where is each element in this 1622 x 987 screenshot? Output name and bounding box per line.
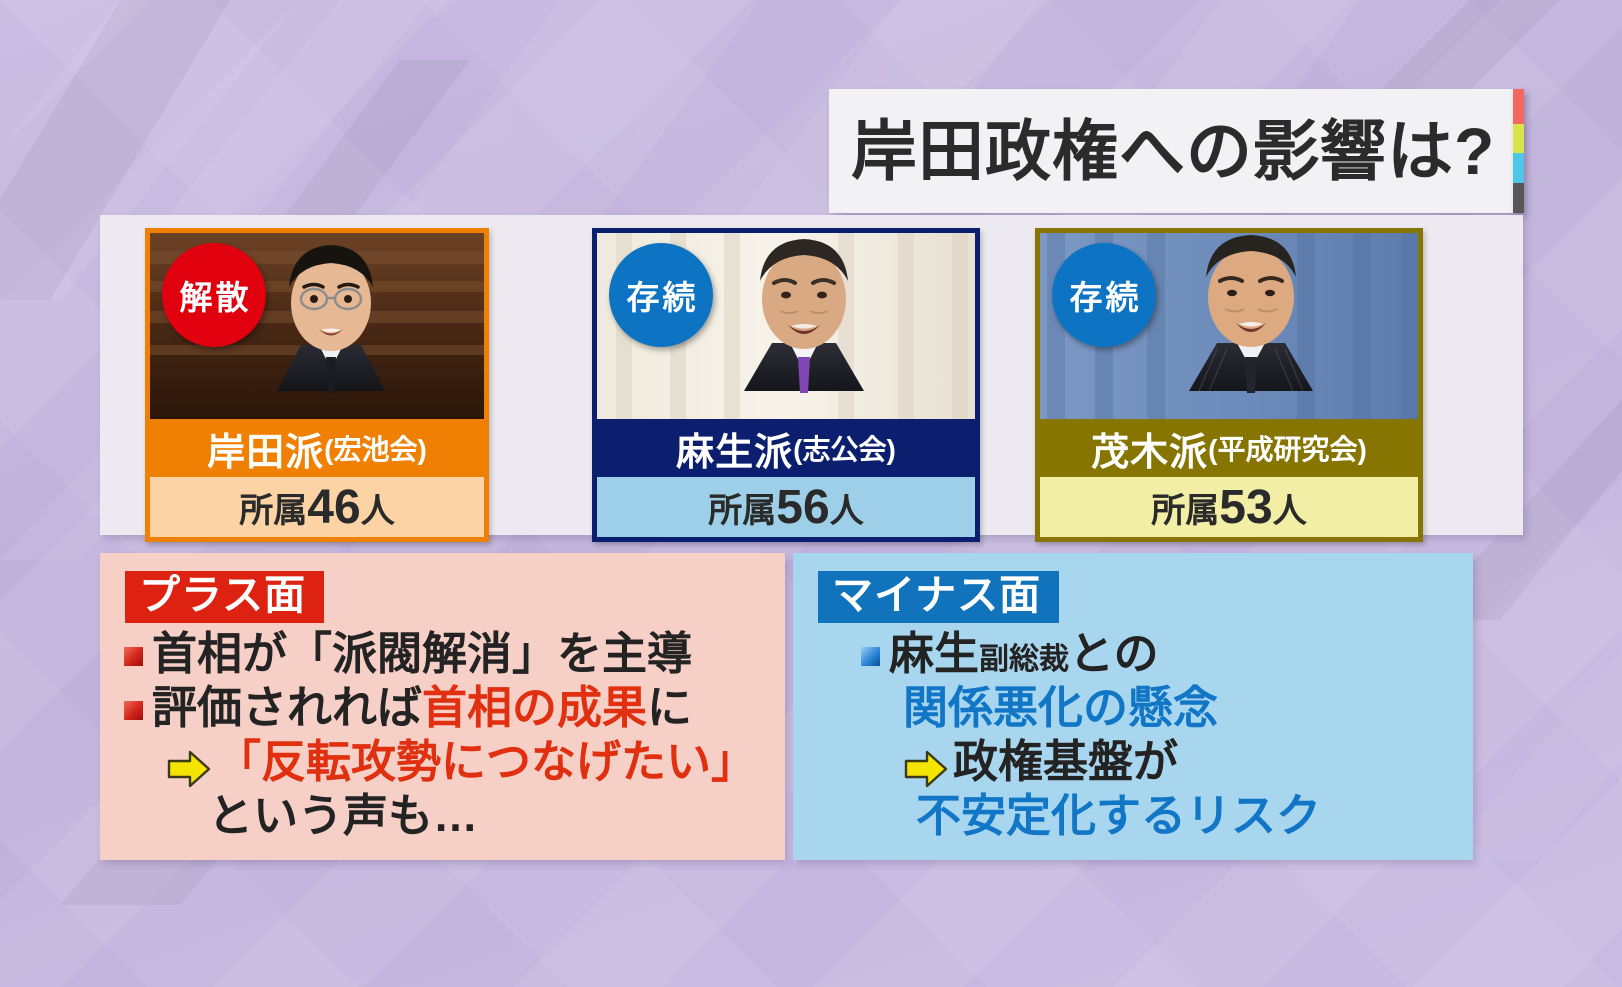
plus-bullet-2-tail: に	[647, 682, 692, 733]
politician-photo-aso: 存続	[597, 233, 975, 419]
square-bullet-icon	[124, 647, 143, 666]
plus-tail-text: という声も…	[208, 790, 478, 841]
member-count-value-kishida: 46	[307, 480, 360, 535]
faction-alias-aso: (志公会)	[793, 428, 896, 468]
faction-name-bar-aso: 麻生派(志公会)	[597, 419, 975, 477]
plus-points-panel: プラス面 首相が「派閥解消」を主導 評価されれば首相の成果に 「反転攻勢につなげ…	[100, 553, 785, 860]
member-count-label-motegi: 所属	[1151, 483, 1219, 532]
minus-line2-text: 関係悪化の懸念	[903, 682, 1218, 733]
member-count-unit-aso: 人	[830, 483, 864, 532]
minus-line2-row: 関係悪化の懸念	[861, 681, 1473, 735]
plus-tail-line: という声も…	[124, 789, 785, 843]
accent-swatch-cyan	[1513, 153, 1524, 183]
minus-line4-row: 不安定化するリスク	[861, 789, 1473, 843]
broadcast-graphic-stage: 岸田政権への影響は?	[0, 0, 1622, 987]
accent-swatch-gray	[1513, 183, 1524, 213]
right-arrow-icon	[166, 749, 212, 789]
faction-alias-kishida: (宏池会)	[324, 428, 427, 468]
faction-name-kishida: 岸田派	[207, 421, 324, 476]
plus-panel-tag: プラス面	[125, 571, 324, 623]
faction-card-aso[interactable]: 存続 麻生派(志公会) 所属56人	[592, 228, 980, 542]
accent-swatch-green	[1513, 124, 1524, 154]
plus-quote-text: 「反転攻勢につなげたい」	[216, 735, 756, 789]
faction-name-bar-kishida: 岸田派(宏池会)	[150, 419, 484, 477]
member-count-unit-motegi: 人	[1273, 483, 1307, 532]
faction-name-aso: 麻生派	[676, 421, 793, 476]
member-count-unit-kishida: 人	[361, 483, 395, 532]
member-count-value-motegi: 53	[1219, 480, 1272, 535]
minus-bullet-list: 麻生副総裁との 関係悪化の懸念 政権基盤が 不安定化するリスク	[793, 627, 1473, 843]
minus-line1-tail: との	[1069, 628, 1159, 679]
status-badge-aso: 存続	[609, 243, 713, 347]
member-count-bar-motegi: 所属53人	[1040, 477, 1418, 537]
list-item: 首相が「派閥解消」を主導	[124, 627, 785, 681]
status-badge-motegi: 存続	[1052, 243, 1156, 347]
list-item: 麻生副総裁との	[861, 627, 1473, 681]
member-count-label-kishida: 所属	[239, 483, 307, 532]
minus-line1-main: 麻生	[889, 628, 979, 679]
minus-panel-tag: マイナス面	[818, 571, 1059, 623]
headline-accent-strip	[1513, 89, 1524, 213]
right-arrow-icon	[903, 749, 949, 789]
status-badge-kishida: 解散	[162, 243, 266, 347]
member-count-label-aso: 所属	[708, 483, 776, 532]
member-count-bar-kishida: 所属46人	[150, 477, 484, 537]
plus-bullet-2-highlight: 首相の成果	[422, 682, 647, 733]
minus-line1-small: 副総裁	[979, 643, 1069, 676]
minus-arrow-text: 政権基盤が	[953, 735, 1178, 789]
plus-bullet-1-text: 首相が「派閥解消」を主導	[152, 627, 692, 681]
faction-name-bar-motegi: 茂木派(平成研究会)	[1040, 419, 1418, 477]
plus-bullet-2-lead: 評価されれば	[152, 682, 422, 733]
faction-card-motegi[interactable]: 存続 茂木派(平成研究会) 所属53人	[1035, 228, 1423, 542]
faction-name-motegi: 茂木派	[1091, 421, 1208, 476]
page-title: 岸田政権への影響は?	[829, 118, 1495, 184]
list-item: 評価されれば首相の成果に	[124, 681, 785, 735]
member-count-value-aso: 56	[776, 480, 829, 535]
minus-arrow-line: 政権基盤が	[861, 735, 1473, 789]
minus-line4-text: 不安定化するリスク	[916, 790, 1321, 841]
member-count-bar-aso: 所属56人	[597, 477, 975, 537]
minus-points-panel: マイナス面 麻生副総裁との 関係悪化の懸念 政権基盤が 不安定化するリスク	[793, 553, 1473, 860]
square-bullet-icon	[861, 647, 880, 666]
faction-alias-motegi: (平成研究会)	[1208, 428, 1367, 468]
plus-bullet-list: 首相が「派閥解消」を主導 評価されれば首相の成果に 「反転攻勢につなげたい」 と…	[100, 627, 785, 843]
accent-swatch-red	[1513, 89, 1524, 124]
headline-banner: 岸田政権への影響は?	[829, 89, 1523, 213]
plus-arrow-line: 「反転攻勢につなげたい」	[124, 735, 785, 789]
square-bullet-icon	[124, 701, 143, 720]
politician-photo-motegi: 存続	[1040, 233, 1418, 419]
politician-photo-kishida: 解散	[150, 233, 484, 419]
faction-card-kishida[interactable]: 解散 岸田派(宏池会) 所属46人	[145, 228, 489, 542]
